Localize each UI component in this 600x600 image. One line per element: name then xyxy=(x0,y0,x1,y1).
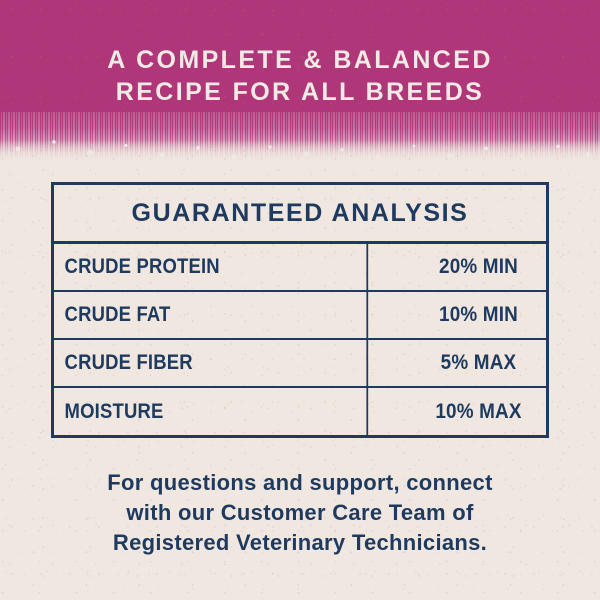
nutrient-label: MOISTURE xyxy=(54,388,368,436)
headline: A COMPLETE & BALANCED RECIPE FOR ALL BRE… xyxy=(0,44,600,108)
headline-line-2: RECIPE FOR ALL BREEDS xyxy=(0,76,600,108)
nutrient-label: CRUDE FAT xyxy=(54,292,368,338)
table-row: CRUDE PROTEIN 20% MIN xyxy=(54,244,546,292)
table-title: GUARANTEED ANALYSIS xyxy=(54,185,546,244)
band-torn-edge-speckle xyxy=(0,118,600,168)
nutrient-label: CRUDE PROTEIN xyxy=(54,244,368,290)
nutrient-value: 5% MAX xyxy=(418,340,540,386)
nutrient-value: 20% MIN xyxy=(418,244,540,290)
table-row: MOISTURE 10% MAX xyxy=(54,388,546,436)
table-row: CRUDE FIBER 5% MAX xyxy=(54,340,546,388)
nutrient-value: 10% MAX xyxy=(418,388,540,436)
product-info-panel: A COMPLETE & BALANCED RECIPE FOR ALL BRE… xyxy=(0,0,600,600)
support-note-line-3: Registered Veterinary Technicians. xyxy=(0,528,600,558)
headline-line-1: A COMPLETE & BALANCED xyxy=(0,44,600,76)
support-note: For questions and support, connect with … xyxy=(0,468,600,558)
nutrient-label: CRUDE FIBER xyxy=(54,340,368,386)
support-note-line-1: For questions and support, connect xyxy=(0,468,600,498)
guaranteed-analysis-table: GUARANTEED ANALYSIS CRUDE PROTEIN 20% MI… xyxy=(51,182,549,438)
table-row: CRUDE FAT 10% MIN xyxy=(54,292,546,340)
nutrient-value: 10% MIN xyxy=(418,292,540,338)
support-note-line-2: with our Customer Care Team of xyxy=(0,498,600,528)
